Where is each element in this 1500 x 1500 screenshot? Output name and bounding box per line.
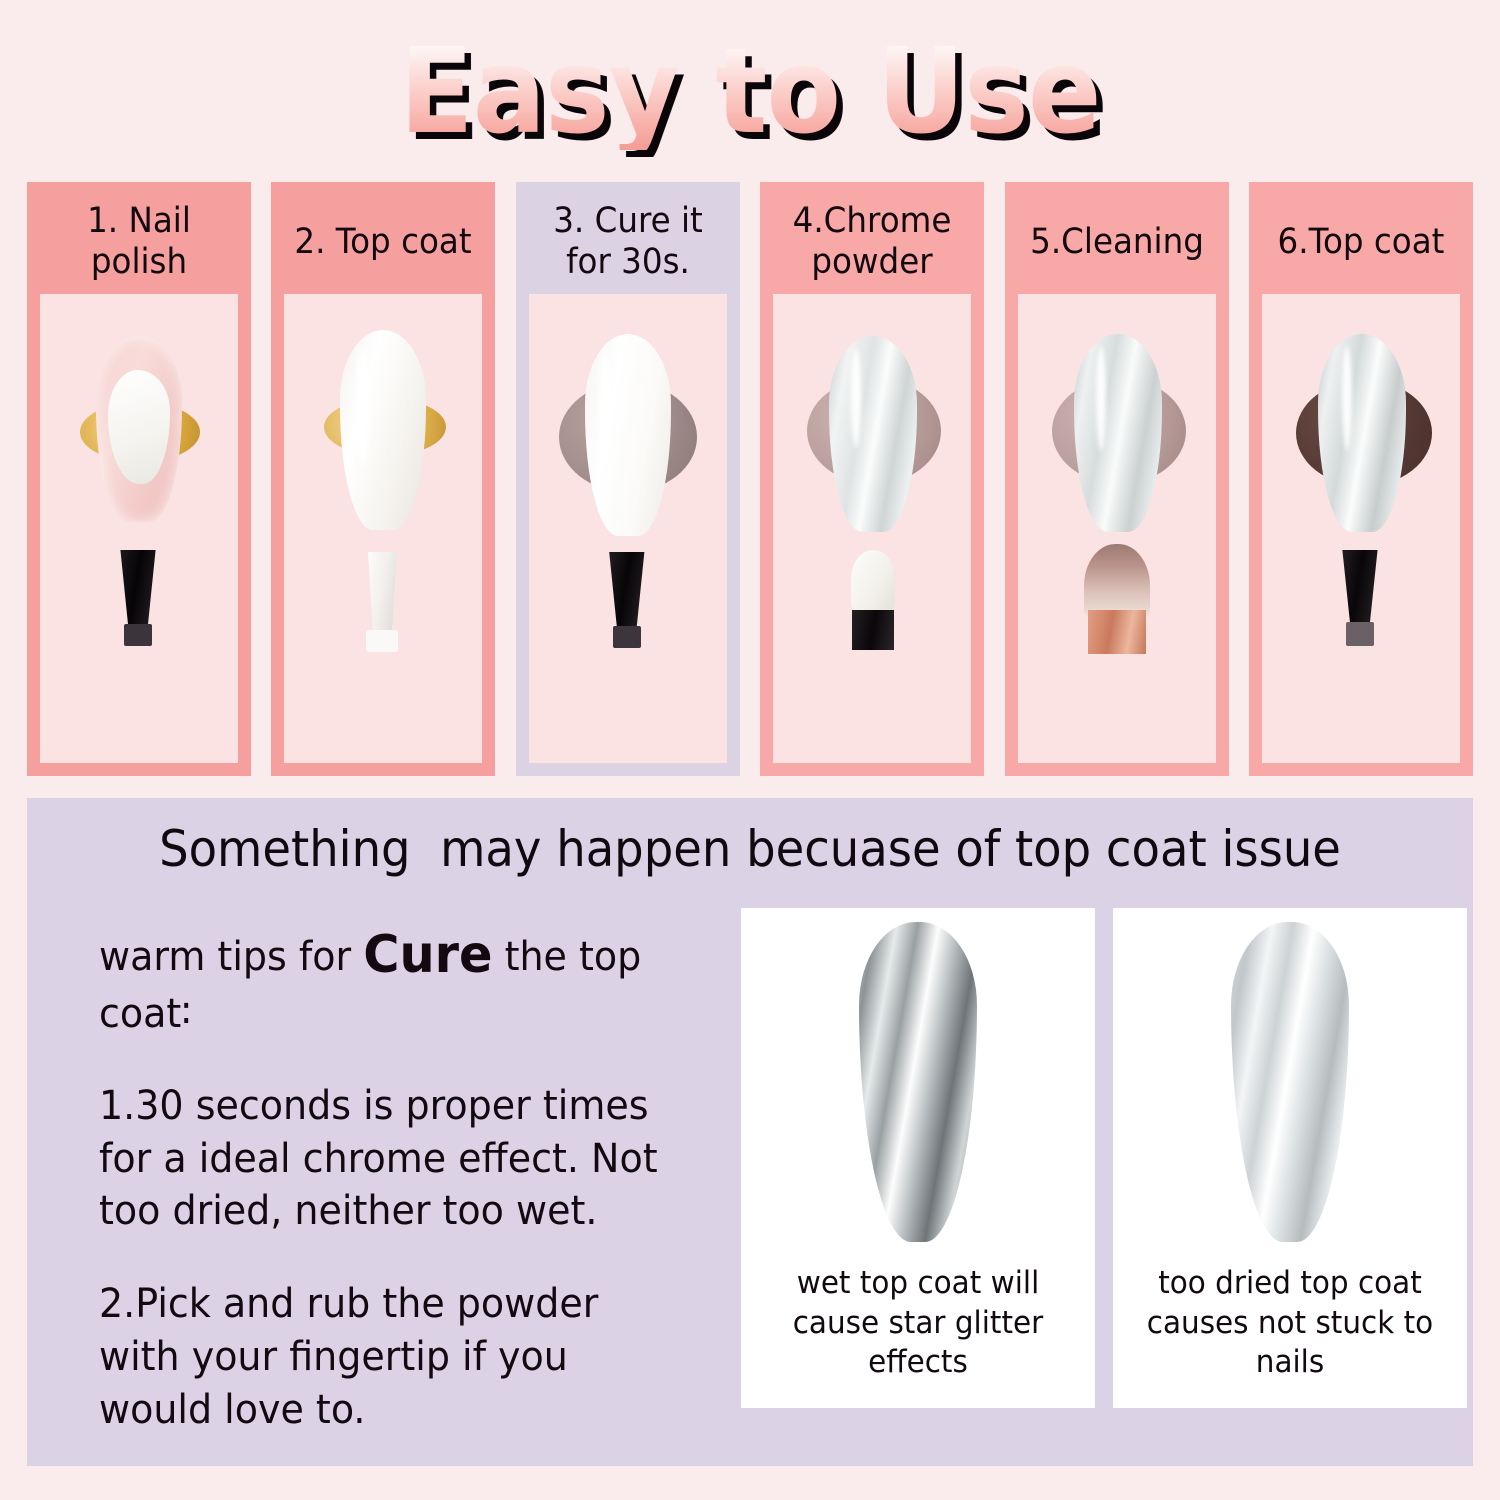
example-photo-dried [1113, 908, 1467, 1258]
panel-body: warm tips for Cure the top coat∶ 1.30 se… [27, 908, 1473, 1464]
polish-brush-handle [118, 550, 158, 628]
tips-column: warm tips for Cure the top coat∶ 1.30 se… [27, 908, 741, 1464]
tips-intro-emphasis: Cure [363, 925, 492, 985]
step-card-1: 1. Nail polish [27, 182, 251, 776]
step-photo-4 [773, 294, 971, 763]
chrome-nail [829, 336, 917, 532]
tips-intro: warm tips for Cure the top coat∶ [99, 922, 680, 1040]
tip-item-1: 1.30 seconds is proper times for a ideal… [99, 1080, 680, 1238]
chrome-highlight [1096, 346, 1106, 450]
polish-brush-handle [1340, 550, 1380, 626]
example-caption-dried: too dried top coat causes not stuck to n… [1122, 1258, 1458, 1383]
polish-brush-base [1346, 622, 1374, 646]
step-photo-6 [1262, 294, 1460, 763]
step-label-3: 3. Cure it for 30s. [524, 190, 732, 294]
tip-item-2: 2.Pick and rub the powder with your fing… [99, 1278, 680, 1436]
polish-brush-base [124, 624, 152, 646]
example-photo-wet [741, 908, 1095, 1258]
example-caption-wet: wet top coat will cause star glitter eff… [750, 1258, 1086, 1383]
polish-brush-handle [607, 552, 647, 630]
topcoat-issue-panel: Something may happen becuase of top coat… [27, 798, 1473, 1466]
example-card-dried: too dried top coat causes not stuck to n… [1113, 908, 1467, 1408]
examples-column: wet top coat will cause star glitter eff… [741, 908, 1473, 1464]
step-photo-5 [1018, 294, 1216, 763]
makeup-brush-ferrule [1088, 610, 1146, 654]
nail-tip [340, 330, 426, 530]
step-card-2: 2. Top coat [271, 182, 495, 776]
tips-intro-before: warm tips for [99, 934, 363, 980]
step-label-4: 4.Chrome powder [768, 190, 976, 294]
step-card-4: 4.Chrome powder [760, 182, 984, 776]
step-label-1: 1. Nail polish [35, 190, 243, 294]
pearl-chrome-nail [1231, 922, 1349, 1242]
nail-tip [585, 334, 671, 536]
sponge-applicator-tip [851, 550, 895, 612]
step-label-2: 2. Top coat [279, 190, 487, 294]
nail-gloss [599, 352, 611, 468]
title-banner: Easy to Use [0, 26, 1500, 156]
makeup-brush-bristles [1084, 544, 1150, 616]
step-photo-2 [284, 294, 482, 763]
topcoat-brush-base [366, 630, 398, 652]
step-label-5: 5.Cleaning [1012, 190, 1220, 294]
page-title: Easy to Use [399, 32, 1100, 150]
topcoat-brush [364, 552, 400, 634]
example-card-wet: wet top coat will cause star glitter eff… [741, 908, 1095, 1408]
step-label-6: 6.Top coat [1257, 190, 1465, 294]
step-card-5: 5.Cleaning [1005, 182, 1229, 776]
panel-heading: Something may happen becuase of top coat… [78, 820, 1423, 878]
step-photo-1 [40, 294, 238, 763]
step-photo-3 [529, 294, 727, 763]
step-card-3: 3. Cure it for 30s. [516, 182, 740, 776]
steps-row: 1. Nail polish 2. Top coat 3. Cure it fo… [27, 182, 1473, 776]
polish-brush-base [613, 626, 641, 648]
step-card-6: 6.Top coat [1249, 182, 1473, 776]
chrome-nail [1318, 334, 1406, 532]
sponge-applicator-handle [852, 610, 894, 650]
dark-chrome-nail [859, 922, 977, 1242]
chrome-highlight [1342, 346, 1352, 450]
chrome-nail [1074, 334, 1162, 532]
